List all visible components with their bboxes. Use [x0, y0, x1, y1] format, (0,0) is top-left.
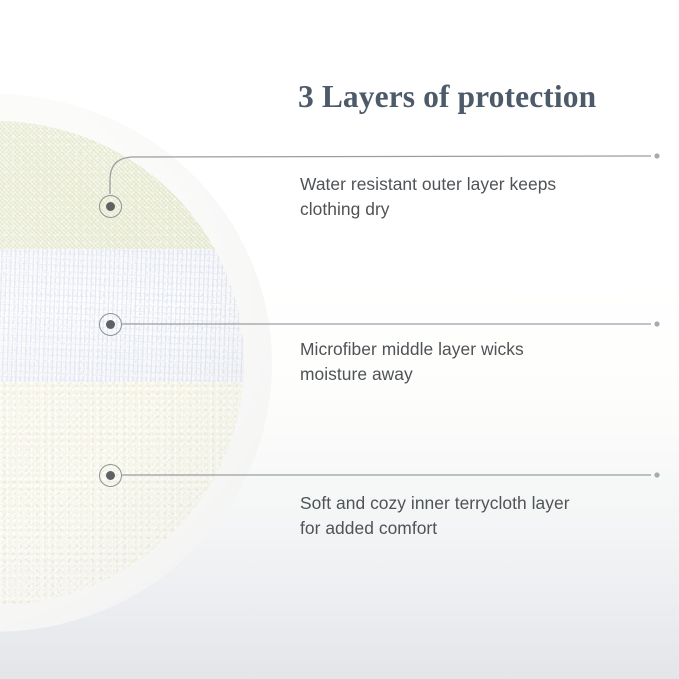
- pad-layer-outer: [0, 121, 244, 266]
- callout-text-inner: Soft and cozy inner terrycloth layer for…: [300, 491, 570, 541]
- leader-endpoint-inner: [654, 472, 659, 477]
- leader-endpoint-outer: [654, 153, 659, 158]
- page-title: 3 Layers of protection: [298, 79, 596, 115]
- leader-endpoint-middle: [654, 321, 659, 326]
- callout-marker-middle[interactable]: [99, 313, 122, 336]
- callout-text-middle: Microfiber middle layer wicks moisture a…: [300, 337, 524, 387]
- callout-marker-inner[interactable]: [99, 464, 122, 487]
- pad-layer-inner: [0, 382, 244, 605]
- infographic-canvas: 3 Layers of protection Water resistant o…: [0, 0, 679, 679]
- pad-layer-middle: [0, 249, 244, 387]
- product-image-nursing-pad: [0, 94, 272, 632]
- callout-text-outer: Water resistant outer layer keeps clothi…: [300, 172, 556, 222]
- callout-marker-outer[interactable]: [99, 195, 122, 218]
- pad-body: [0, 121, 244, 605]
